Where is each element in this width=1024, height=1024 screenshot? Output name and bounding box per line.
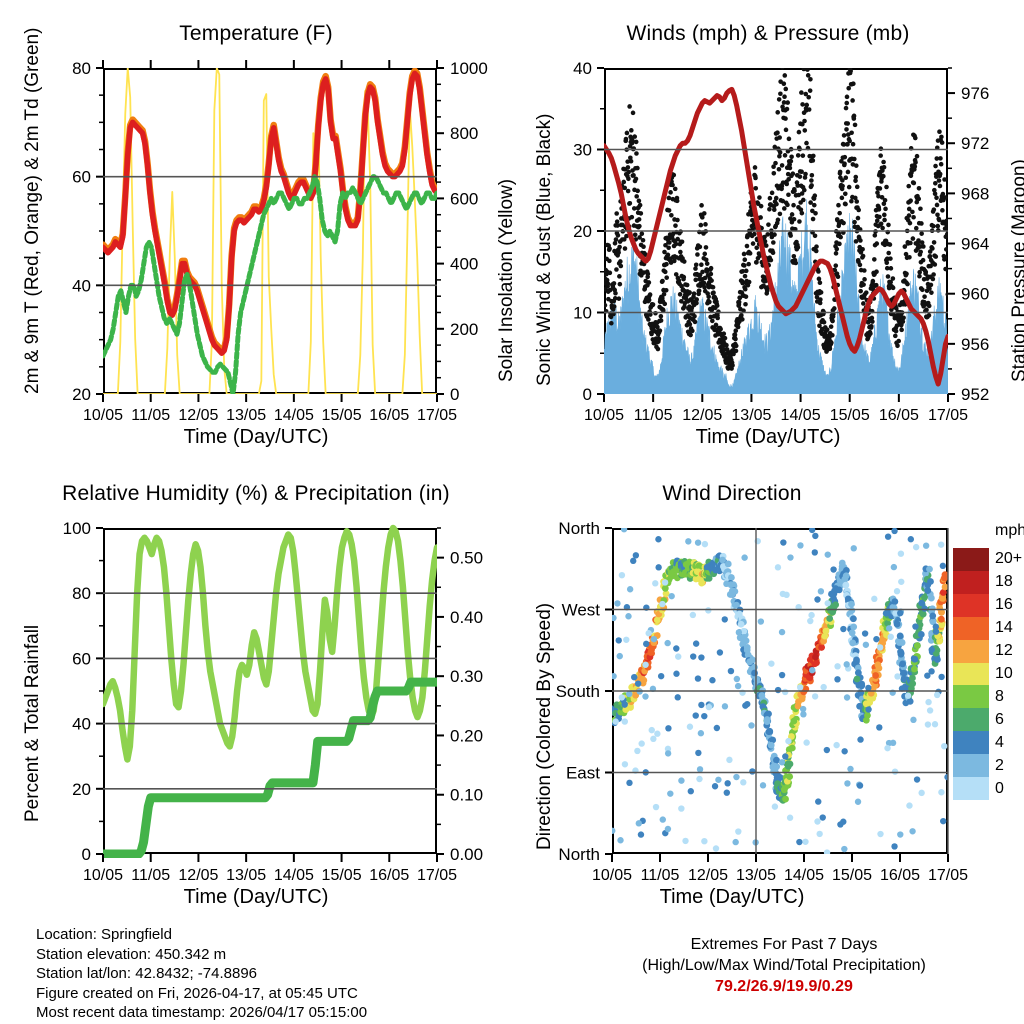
x-axis-tick-label: 17/05: [928, 407, 968, 424]
y-axis-tick-label: 60: [72, 168, 91, 187]
footer-line: Figure created on Fri, 2026-04-17, at 05…: [36, 984, 367, 1004]
y-axis-tick-label: 10: [573, 304, 592, 323]
x-axis-tick-label: 15/05: [322, 407, 362, 424]
extremes-title: Extremes For Past 7 Days: [584, 934, 984, 955]
x-axis-tick-label: 12/05: [178, 867, 218, 884]
y-axis-tick-label-right: 600: [450, 189, 478, 208]
footer-metadata: Location: SpringfieldStation elevation: …: [36, 925, 367, 1023]
x-axis-tick-label: 14/05: [274, 407, 314, 424]
wind-direction-x-axis-label: Time (Day/UTC): [512, 886, 952, 909]
x-axis-tick-label: 14/05: [274, 867, 314, 884]
wind-direction-y-axis-label: Direction (Colored By Speed): [534, 603, 556, 850]
humidity-precip-panel: Relative Humidity (%) & Precipitation (i…: [0, 482, 512, 922]
extremes-subtitle: (High/Low/Max Wind/Total Precipitation): [584, 955, 984, 976]
x-axis-tick-label: 11/05: [641, 867, 680, 884]
x-axis-tick-label: 17/05: [417, 867, 457, 884]
x-axis-tick-label: 17/05: [928, 867, 968, 884]
y-axis-tick-label: 40: [573, 59, 592, 78]
colorbar-band: [953, 685, 989, 708]
x-axis-tick-label: 15/05: [832, 867, 872, 884]
humidity-plot-area: [103, 528, 437, 854]
x-axis-tick-label: 16/05: [369, 407, 409, 424]
wind-direction-title: Wind Direction: [512, 482, 952, 506]
y-axis-tick-label-right: 0.20: [450, 726, 483, 745]
y-axis-tick-label-right: 952: [961, 385, 989, 404]
x-axis-tick-label: 12/05: [178, 407, 218, 424]
y-axis-tick-label-right: 0: [450, 385, 459, 404]
x-axis-tick-label: 12/05: [688, 867, 728, 884]
temperature-plot-area: [103, 68, 437, 394]
colorbar-band: [953, 640, 989, 663]
y-axis-tick-label: 20: [573, 222, 592, 241]
colorbar-label: 10: [995, 665, 1013, 683]
y-axis-tick-label: North: [558, 845, 600, 864]
y-axis-tick-label: 60: [72, 649, 91, 668]
humidity-y-axis-label: Percent & Total Rainfall: [22, 625, 44, 822]
colorbar-band: [953, 708, 989, 731]
y-axis-tick-label: 0: [583, 385, 592, 404]
pressure-y-axis-label: Station Pressure (Maroon): [1009, 159, 1024, 382]
y-axis-tick-label-right: 800: [450, 124, 478, 143]
y-axis-tick-label: West: [562, 601, 601, 620]
y-axis-tick-label-right: 0.30: [450, 667, 483, 686]
winds-plot-area: [604, 68, 948, 394]
colorbar-label: 0: [995, 780, 1004, 798]
y-axis-tick-label-right: 0.40: [450, 608, 483, 627]
temperature-panel: Temperature (F) 2m & 9m T (Red, Orange) …: [0, 22, 512, 462]
x-axis-tick-label: 10/05: [83, 407, 123, 424]
y-axis-tick-label: East: [566, 764, 600, 783]
y-axis-tick-label-right: 968: [961, 184, 989, 203]
temperature-x-axis-label: Time (Day/UTC): [0, 426, 512, 449]
x-axis-tick-label: 10/05: [584, 407, 624, 424]
extremes-value: 79.2/26.9/19.9/0.29: [584, 976, 984, 997]
x-axis-tick-label: 11/05: [634, 407, 673, 424]
x-axis-tick-label: 15/05: [322, 867, 362, 884]
y-axis-tick-label: 30: [573, 141, 592, 160]
colorbar-band: [953, 777, 989, 800]
colorbar-label: 20+: [995, 550, 1022, 568]
colorbar-label: 12: [995, 642, 1013, 660]
colorbar-band: [953, 548, 989, 571]
y-axis-tick-label: 20: [72, 780, 91, 799]
colorbar-band: [953, 594, 989, 617]
footer-line: Most recent data timestamp: 2026/04/17 0…: [36, 1003, 367, 1023]
y-axis-tick-label: North: [558, 519, 600, 538]
temperature-y-axis-label: 2m & 9m T (Red, Orange) & 2m Td (Green): [22, 28, 44, 394]
x-axis-tick-label: 12/05: [682, 407, 722, 424]
page-title: Temperature (F): [0, 22, 512, 46]
x-axis-tick-label: 13/05: [736, 867, 776, 884]
y-axis-tick-label: 0: [82, 845, 91, 864]
colorbar-header: mph: [995, 522, 1024, 540]
y-axis-tick-label-right: 964: [961, 235, 989, 254]
colorbar-label: 14: [995, 619, 1013, 637]
y-axis-tick-label-right: 0.50: [450, 549, 483, 568]
wind-direction-plot-area: [612, 528, 948, 854]
y-axis-tick-label-right: 400: [450, 255, 478, 274]
winds-y-axis-label: Sonic Wind & Gust (Blue, Black): [534, 114, 556, 386]
y-axis-tick-label-right: 960: [961, 285, 989, 304]
colorbar-label: 4: [995, 734, 1004, 752]
x-axis-tick-label: 17/05: [417, 407, 457, 424]
colorbar-band: [953, 663, 989, 686]
y-axis-tick-label-right: 1000: [450, 59, 488, 78]
humidity-title: Relative Humidity (%) & Precipitation (i…: [0, 482, 512, 506]
y-axis-tick-label-right: 0.00: [450, 845, 483, 864]
x-axis-tick-label: 11/05: [131, 867, 170, 884]
wind-direction-panel: Wind Direction Direction (Colored By Spe…: [512, 482, 1024, 922]
x-axis-tick-label: 14/05: [781, 407, 821, 424]
x-axis-tick-label: 10/05: [83, 867, 123, 884]
footer-line: Location: Springfield: [36, 925, 367, 945]
y-axis-tick-label-right: 200: [450, 320, 478, 339]
extremes-block: Extremes For Past 7 Days (High/Low/Max W…: [584, 934, 984, 997]
y-axis-tick-label-right: 0.10: [450, 786, 483, 805]
x-axis-tick-label: 13/05: [731, 407, 771, 424]
x-axis-tick-label: 16/05: [369, 867, 409, 884]
footer-line: Station lat/lon: 42.8432; -74.8896: [36, 964, 367, 984]
colorbar-label: 2: [995, 757, 1004, 775]
y-axis-tick-label: South: [556, 682, 600, 701]
humidity-x-axis-label: Time (Day/UTC): [0, 886, 512, 909]
x-axis-tick-label: 10/05: [592, 867, 632, 884]
x-axis-tick-label: 15/05: [830, 407, 870, 424]
colorbar-label: 18: [995, 573, 1013, 591]
winds-pressure-panel: Winds (mph) & Pressure (mb) Sonic Wind &…: [512, 22, 1024, 462]
colorbar-band: [953, 731, 989, 754]
wind-speed-colorbar: [953, 548, 989, 800]
winds-title: Winds (mph) & Pressure (mb): [512, 22, 1024, 46]
colorbar-label: 8: [995, 688, 1004, 706]
x-axis-tick-label: 14/05: [784, 867, 824, 884]
winds-x-axis-label: Time (Day/UTC): [512, 426, 1024, 449]
colorbar-band: [953, 571, 989, 594]
y-axis-tick-label: 40: [72, 276, 91, 295]
x-axis-tick-label: 16/05: [880, 867, 920, 884]
colorbar-band: [953, 617, 989, 640]
y-axis-tick-label: 80: [72, 584, 91, 603]
y-axis-tick-label-right: 956: [961, 335, 989, 354]
y-axis-tick-label-right: 972: [961, 134, 989, 153]
x-axis-tick-label: 13/05: [226, 407, 266, 424]
x-axis-tick-label: 16/05: [879, 407, 919, 424]
colorbar-band: [953, 754, 989, 777]
colorbar-label: 16: [995, 596, 1013, 614]
y-axis-tick-label: 100: [63, 519, 91, 538]
colorbar-label: 6: [995, 711, 1004, 729]
y-axis-tick-label-right: 976: [961, 84, 989, 103]
footer-line: Station elevation: 450.342 m: [36, 945, 367, 965]
x-axis-tick-label: 13/05: [226, 867, 266, 884]
y-axis-tick-label: 20: [72, 385, 91, 404]
y-axis-tick-label: 80: [72, 59, 91, 78]
y-axis-tick-label: 40: [72, 715, 91, 734]
x-axis-tick-label: 11/05: [131, 407, 170, 424]
